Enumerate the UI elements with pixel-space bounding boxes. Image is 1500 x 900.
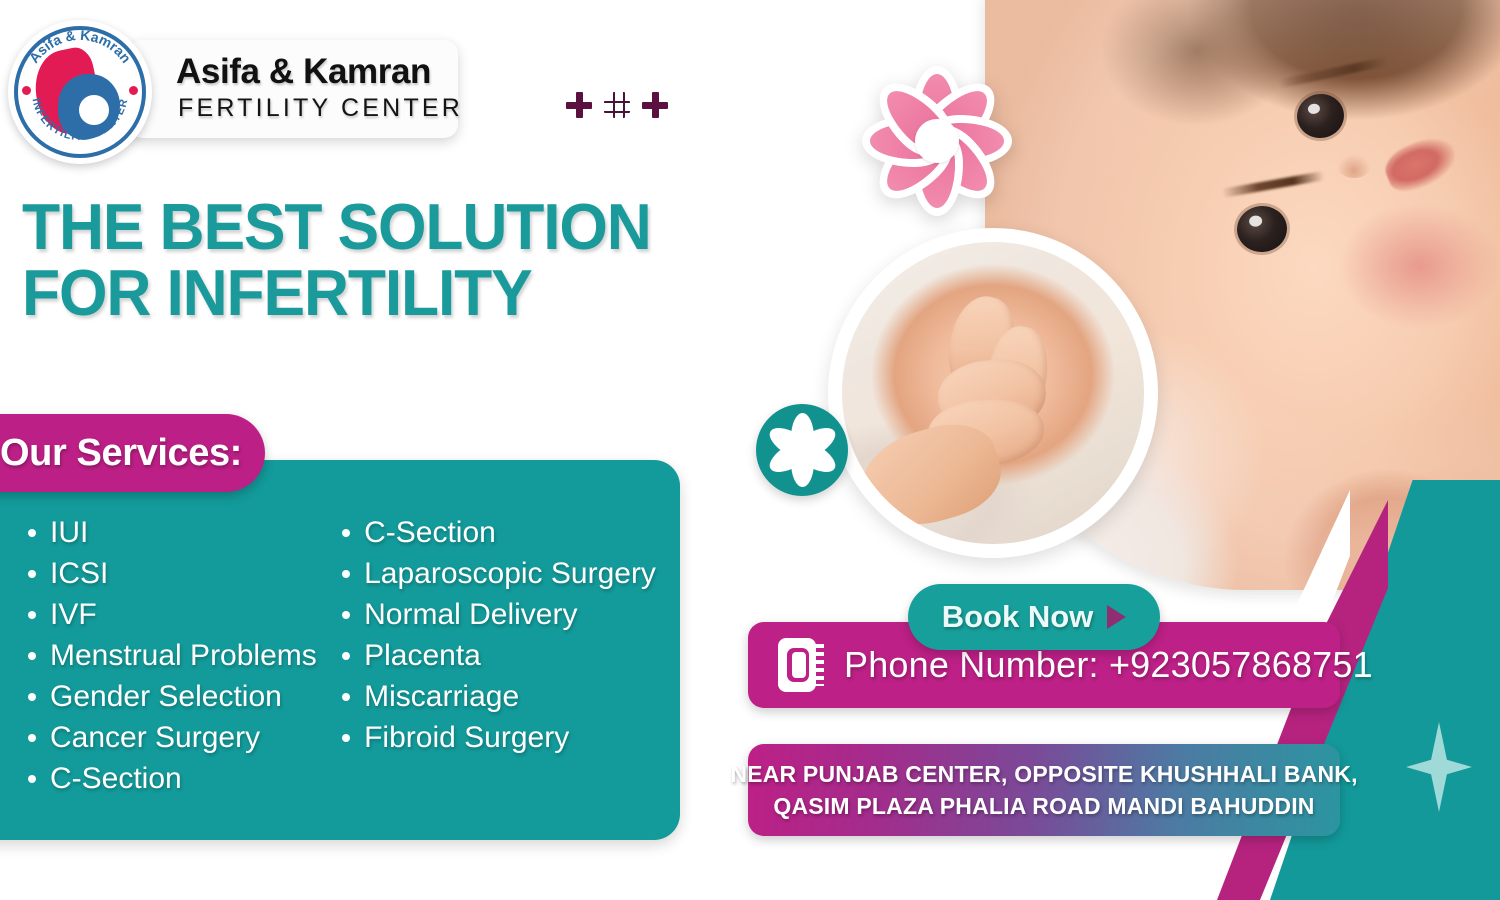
service-list-item: Cancer Surgery xyxy=(18,717,318,758)
service-list-item: Placenta xyxy=(332,635,700,676)
address-line-1: NEAR PUNJAB CENTER, OPPOSITE KHUSHHALI B… xyxy=(730,758,1357,790)
flower-icon xyxy=(858,62,1016,220)
services-column-1: IUIICSIIVFMenstrual ProblemsGender Selec… xyxy=(0,512,318,799)
svg-text:INFERTILITY CENTER: INFERTILITY CENTER xyxy=(30,97,131,143)
service-list-item: Fibroid Surgery xyxy=(332,717,700,758)
baby-eyebrow xyxy=(1221,171,1325,198)
service-list-item: Menstrual Problems xyxy=(18,635,318,676)
baby-hand-image xyxy=(842,242,1144,544)
phone-number-text: Phone Number: +923057868751 xyxy=(844,644,1373,686)
headline-line-2: FOR INFERTILITY xyxy=(22,260,675,326)
services-title-badge: Our Services: xyxy=(0,414,265,492)
service-list-item: IVF xyxy=(18,594,318,635)
address-bar: NEAR PUNJAB CENTER, OPPOSITE KHUSHHALI B… xyxy=(748,744,1340,836)
service-list-item: Gender Selection xyxy=(18,676,318,717)
service-list-item: ICSI xyxy=(18,553,318,594)
poster-canvas: Asifa & Kamran FERTILITY CENTER Asifa & … xyxy=(0,0,1500,900)
plus-outline-icon xyxy=(604,92,630,118)
service-list-item: Laparoscopic Surgery xyxy=(332,553,700,594)
service-list-item: C-Section xyxy=(18,758,318,799)
brand-subtitle: FERTILITY CENTER xyxy=(178,94,463,123)
brand-name: Asifa & Kamran xyxy=(176,52,431,92)
services-column-2: C-SectionLaparoscopic SurgeryNormal Deli… xyxy=(318,512,700,799)
baby-eye xyxy=(1235,204,1290,255)
book-now-label: Book Now xyxy=(942,599,1094,635)
baby-eyebrow xyxy=(1277,56,1388,88)
brand-logo-mark-icon: Asifa & Kamran INFERTILITY CENTER xyxy=(8,20,152,164)
services-columns: IUIICSIIVFMenstrual ProblemsGender Selec… xyxy=(0,512,700,799)
plus-icon xyxy=(566,92,592,118)
baby-eye xyxy=(1294,91,1347,141)
plus-decoration-group xyxy=(566,92,668,118)
headline-line-1: THE BEST SOLUTION xyxy=(22,194,675,260)
service-list-item: Miscarriage xyxy=(332,676,700,717)
baby-mouth xyxy=(1379,130,1462,198)
play-arrow-icon xyxy=(1107,605,1126,629)
flower-icon xyxy=(756,404,848,496)
service-list-item: Normal Delivery xyxy=(332,594,700,635)
svg-text:Asifa & Kamran: Asifa & Kamran xyxy=(26,27,135,66)
service-list-item: IUI xyxy=(18,512,318,553)
book-now-button[interactable]: Book Now xyxy=(908,584,1160,650)
baby-nose xyxy=(1337,154,1371,178)
page-title: THE BEST SOLUTION FOR INFERTILITY xyxy=(22,194,675,327)
baby-hand-circle-photo xyxy=(828,228,1158,558)
address-line-2: QASIM PLAZA PHALIA ROAD MANDI BAHUDDIN xyxy=(773,790,1314,822)
service-list-item: C-Section xyxy=(332,512,700,553)
plus-icon xyxy=(642,92,668,118)
services-title: Our Services: xyxy=(0,432,242,475)
phone-icon xyxy=(778,638,824,692)
